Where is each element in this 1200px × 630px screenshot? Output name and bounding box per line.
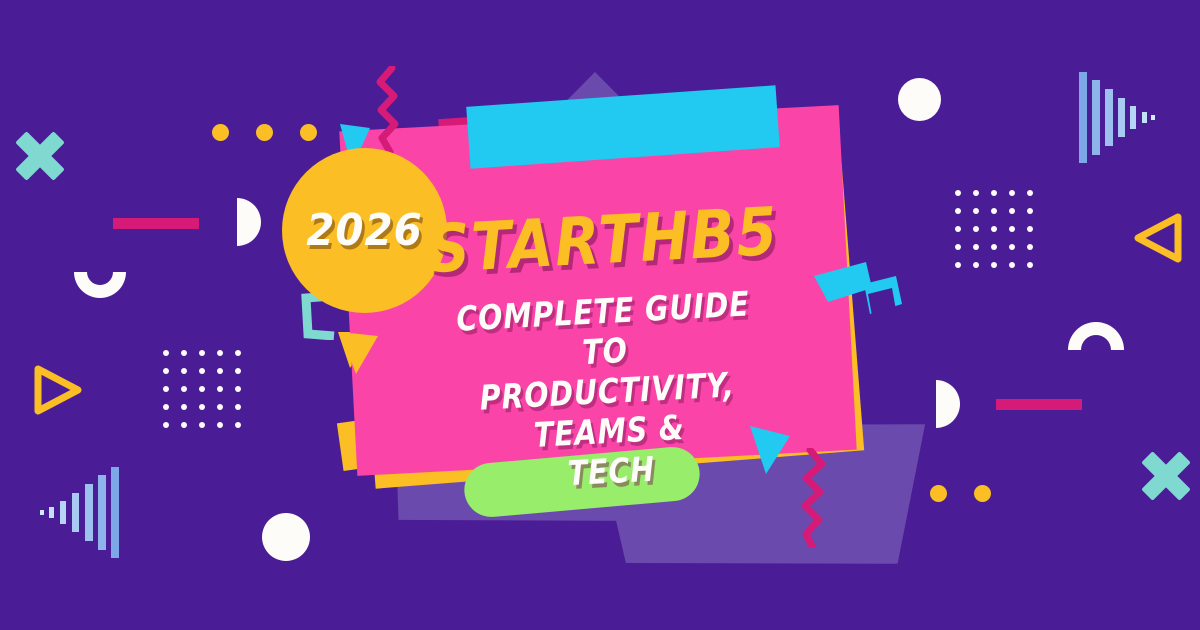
cyan-flag-icon [808,258,904,343]
central-composition: 2026 STARTHB5 COMPLETE GUIDE TO PRODUCTI… [0,0,1200,630]
title-block: STARTHB5 COMPLETE GUIDE TO PRODUCTIVITY,… [403,198,807,503]
banner-canvas: 2026 STARTHB5 COMPLETE GUIDE TO PRODUCTI… [0,0,1200,630]
page-title: STARTHB5 [426,199,772,283]
yellow-triangle-decor [338,330,380,381]
